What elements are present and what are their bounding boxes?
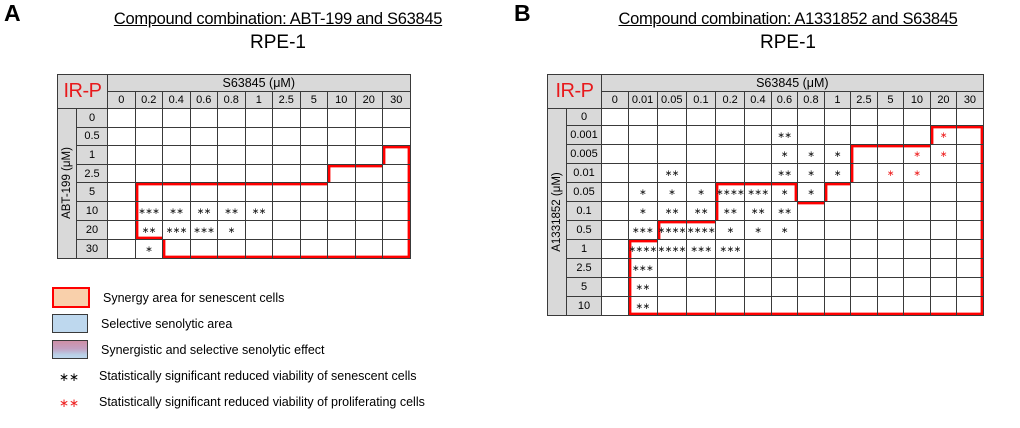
heatmap-cell bbox=[328, 183, 356, 202]
heatmap-cell bbox=[957, 240, 984, 259]
row-header-2.5: 2.5 bbox=[567, 259, 602, 278]
column-header-0.05: 0.05 bbox=[657, 92, 686, 109]
heatmap-cell bbox=[824, 109, 851, 126]
heatmap-cell bbox=[602, 221, 629, 240]
heatmap-cell bbox=[930, 183, 957, 202]
heatmap-cell: ∗∗ bbox=[686, 202, 715, 221]
heatmap-cell bbox=[904, 183, 931, 202]
heatmap-cell bbox=[135, 164, 163, 183]
significance-stars: ∗∗ bbox=[636, 283, 650, 293]
column-header-1: 1 bbox=[824, 92, 851, 109]
heatmap-cell bbox=[218, 127, 246, 146]
significance-stars: ∗∗∗∗ bbox=[658, 245, 686, 255]
heatmap-cell bbox=[218, 109, 246, 128]
heatmap-cell bbox=[904, 297, 931, 316]
significance-stars: ∗ bbox=[940, 131, 947, 141]
heatmap-cell: ∗∗ bbox=[628, 297, 657, 316]
row-header-20: 20 bbox=[77, 220, 108, 239]
column-header-20: 20 bbox=[355, 92, 383, 109]
column-header-0.4: 0.4 bbox=[745, 92, 772, 109]
heatmap-cell bbox=[798, 259, 825, 278]
heatmap-cell: ∗ bbox=[877, 164, 904, 183]
significance-stars: ∗ bbox=[887, 169, 894, 179]
heatmap-cell bbox=[824, 278, 851, 297]
heatmap-cell bbox=[930, 297, 957, 316]
row-header-0.5: 0.5 bbox=[567, 221, 602, 240]
panel-a-heatmap: IR-PS63845 (μM)00.20.40.60.812.55102030A… bbox=[57, 74, 411, 259]
legend-swatch-blue bbox=[52, 314, 88, 333]
heatmap-cell: ∗∗∗∗ bbox=[686, 221, 715, 240]
heatmap-cell bbox=[273, 220, 301, 239]
column-header-2.5: 2.5 bbox=[273, 92, 301, 109]
heatmap-cell: ∗ bbox=[218, 220, 246, 239]
heatmap-cell: ∗∗∗ bbox=[628, 259, 657, 278]
column-header-0.2: 0.2 bbox=[135, 92, 163, 109]
heatmap-cell bbox=[930, 109, 957, 126]
heatmap-cell bbox=[930, 221, 957, 240]
heatmap-cell bbox=[904, 278, 931, 297]
heatmap-cell bbox=[904, 221, 931, 240]
heatmap-cell bbox=[904, 126, 931, 145]
legend-stars-red-icon: ∗∗ bbox=[52, 396, 86, 410]
heatmap-cell bbox=[957, 259, 984, 278]
significance-stars: ∗ bbox=[807, 188, 814, 198]
heatmap-cell: ∗∗ bbox=[771, 202, 798, 221]
heatmap-cell bbox=[218, 146, 246, 165]
heatmap-cell bbox=[904, 109, 931, 126]
significance-stars: ∗∗∗ bbox=[747, 188, 768, 198]
heatmap-cell bbox=[273, 146, 301, 165]
significance-stars: ∗ bbox=[781, 226, 788, 236]
significance-stars: ∗ bbox=[913, 169, 920, 179]
heatmap-cell bbox=[273, 201, 301, 220]
heatmap-cell bbox=[851, 202, 878, 221]
heatmap-cell bbox=[602, 145, 629, 164]
heatmap-cell bbox=[328, 220, 356, 239]
heatmap-cell bbox=[245, 220, 273, 239]
column-header-5: 5 bbox=[300, 92, 328, 109]
panel-a-cell-line: RPE-1 bbox=[52, 33, 504, 52]
heatmap-cell bbox=[355, 183, 383, 202]
heatmap-cell bbox=[108, 146, 136, 165]
heatmap-table-b: IR-PS63845 (μM)00.010.050.10.20.40.60.81… bbox=[547, 74, 984, 316]
heatmap-cell bbox=[851, 109, 878, 126]
significance-stars: ∗ bbox=[754, 226, 761, 236]
column-header-0: 0 bbox=[108, 92, 136, 109]
heatmap-cell bbox=[355, 201, 383, 220]
heatmap-cell bbox=[877, 259, 904, 278]
heatmap-cell bbox=[108, 220, 136, 239]
row-header-0: 0 bbox=[567, 109, 602, 126]
column-header-5: 5 bbox=[877, 92, 904, 109]
significance-stars: ∗ bbox=[913, 150, 920, 160]
heatmap-cell bbox=[190, 239, 218, 258]
heatmap-cell: ∗∗∗ bbox=[190, 220, 218, 239]
heatmap-cell bbox=[771, 109, 798, 126]
heatmap-cell bbox=[190, 164, 218, 183]
legend-row: Synergy area for senescent cells bbox=[52, 288, 425, 307]
heatmap-cell bbox=[328, 127, 356, 146]
heatmap-cell bbox=[851, 221, 878, 240]
heatmap-cell: ∗∗ bbox=[218, 201, 246, 220]
significance-stars: ∗∗ bbox=[224, 207, 238, 217]
heatmap-cell bbox=[602, 240, 629, 259]
heatmap-cell bbox=[355, 239, 383, 258]
significance-stars: ∗∗ bbox=[723, 207, 737, 217]
row-header-0.001: 0.001 bbox=[567, 126, 602, 145]
legend-label: Synergy area for senescent cells bbox=[103, 291, 284, 305]
heatmap-cell bbox=[851, 145, 878, 164]
heatmap-cell bbox=[745, 240, 772, 259]
heatmap-cell bbox=[798, 297, 825, 316]
heatmap-cell bbox=[628, 164, 657, 183]
heatmap-cell bbox=[163, 146, 191, 165]
column-header-20: 20 bbox=[930, 92, 957, 109]
heatmap-cell bbox=[602, 109, 629, 126]
significance-stars: ∗∗∗ bbox=[193, 226, 214, 236]
heatmap-cell bbox=[300, 146, 328, 165]
heatmap-cell: ∗∗∗ bbox=[628, 221, 657, 240]
heatmap-cell bbox=[602, 278, 629, 297]
legend-stars-black-icon: ∗∗ bbox=[52, 370, 86, 384]
heatmap-cell bbox=[686, 164, 715, 183]
heatmap-cell bbox=[245, 146, 273, 165]
heatmap-cell: ∗ bbox=[771, 221, 798, 240]
heatmap-cell bbox=[745, 145, 772, 164]
heatmap-cell bbox=[135, 109, 163, 128]
heatmap-cell bbox=[245, 127, 273, 146]
significance-stars: ∗∗ bbox=[777, 169, 791, 179]
column-axis-title: S63845 (μM) bbox=[602, 75, 984, 92]
heatmap-cell bbox=[218, 239, 246, 258]
heatmap-cell: ∗∗ bbox=[716, 202, 745, 221]
heatmap-cell: ∗ bbox=[798, 164, 825, 183]
column-header-2.5: 2.5 bbox=[851, 92, 878, 109]
row-header-10: 10 bbox=[567, 297, 602, 316]
heatmap-cell bbox=[245, 109, 273, 128]
heatmap-cell bbox=[957, 221, 984, 240]
heatmap-cell: ∗∗ bbox=[657, 164, 686, 183]
heatmap-cell: ∗ bbox=[904, 145, 931, 164]
heatmap-cell bbox=[383, 146, 411, 165]
panel-b-titles: Compound combination: A1331852 and S6384… bbox=[562, 10, 1014, 52]
significance-stars: ∗∗∗ bbox=[166, 226, 187, 236]
heatmap-cell: ∗∗ bbox=[163, 201, 191, 220]
heatmap-cell bbox=[245, 183, 273, 202]
heatmap-cell bbox=[657, 126, 686, 145]
heatmap-cell bbox=[824, 259, 851, 278]
row-header-0.005: 0.005 bbox=[567, 145, 602, 164]
heatmap-cell: ∗∗∗ bbox=[163, 220, 191, 239]
heatmap-cell: ∗ bbox=[657, 183, 686, 202]
heatmap-cell bbox=[108, 239, 136, 258]
heatmap-cell bbox=[745, 164, 772, 183]
heatmap-cell bbox=[686, 109, 715, 126]
heatmap-cell bbox=[108, 183, 136, 202]
heatmap-cell bbox=[190, 146, 218, 165]
heatmap-cell: ∗∗ bbox=[628, 278, 657, 297]
column-header-0.1: 0.1 bbox=[686, 92, 715, 109]
heatmap-cell: ∗∗ bbox=[771, 126, 798, 145]
heatmap-cell bbox=[930, 240, 957, 259]
heatmap-cell: ∗ bbox=[628, 202, 657, 221]
column-header-0.01: 0.01 bbox=[628, 92, 657, 109]
heatmap-cell: ∗∗∗ bbox=[745, 183, 772, 202]
heatmap-cell: ∗∗∗∗ bbox=[657, 221, 686, 240]
heatmap-cell: ∗ bbox=[771, 145, 798, 164]
heatmap-cell bbox=[108, 201, 136, 220]
column-header-0.8: 0.8 bbox=[798, 92, 825, 109]
heatmap-cell: ∗∗ bbox=[135, 220, 163, 239]
significance-stars: ∗ bbox=[834, 150, 841, 160]
heatmap-cell bbox=[824, 183, 851, 202]
significance-stars: ∗∗∗∗ bbox=[658, 226, 686, 236]
panel-a: A Compound combination: ABT-199 and S638… bbox=[0, 0, 510, 426]
heatmap-cell bbox=[957, 126, 984, 145]
heatmap-cell bbox=[957, 278, 984, 297]
significance-stars: ∗ bbox=[668, 188, 675, 198]
heatmap-cell bbox=[877, 126, 904, 145]
heatmap-cell: ∗ bbox=[745, 221, 772, 240]
heatmap-cell bbox=[628, 145, 657, 164]
heatmap-cell bbox=[877, 221, 904, 240]
heatmap-cell bbox=[328, 201, 356, 220]
heatmap-cell bbox=[328, 109, 356, 128]
heatmap-cell bbox=[355, 220, 383, 239]
heatmap-cell bbox=[798, 278, 825, 297]
heatmap-cell bbox=[657, 145, 686, 164]
legend-label: Statistically significant reduced viabil… bbox=[99, 369, 417, 383]
significance-stars: ∗ bbox=[145, 245, 152, 255]
heatmap-cell bbox=[686, 126, 715, 145]
heatmap-cell bbox=[163, 127, 191, 146]
heatmap-cell bbox=[300, 183, 328, 202]
heatmap-cell: ∗∗∗∗ bbox=[657, 240, 686, 259]
row-header-0.5: 0.5 bbox=[77, 127, 108, 146]
heatmap-cell bbox=[135, 127, 163, 146]
heatmap-cell bbox=[957, 164, 984, 183]
heatmap-cell bbox=[851, 240, 878, 259]
column-header-0.8: 0.8 bbox=[218, 92, 246, 109]
heatmap-cell bbox=[602, 126, 629, 145]
significance-stars: ∗ bbox=[639, 188, 646, 198]
heatmap-cell: ∗ bbox=[135, 239, 163, 258]
row-header-5: 5 bbox=[77, 183, 108, 202]
heatmap-cell bbox=[190, 109, 218, 128]
significance-stars: ∗ bbox=[727, 226, 734, 236]
heatmap-cell bbox=[163, 183, 191, 202]
heatmap-cell bbox=[716, 126, 745, 145]
column-header-0.6: 0.6 bbox=[190, 92, 218, 109]
heatmap-cell: ∗ bbox=[798, 183, 825, 202]
significance-stars: ∗ bbox=[834, 169, 841, 179]
heatmap-cell bbox=[163, 239, 191, 258]
heatmap-cell bbox=[745, 126, 772, 145]
significance-stars: ∗ bbox=[228, 226, 235, 236]
heatmap-cell bbox=[877, 109, 904, 126]
significance-stars: ∗ bbox=[639, 207, 646, 217]
significance-stars: ∗∗ bbox=[665, 169, 679, 179]
heatmap-cell: ∗∗∗ bbox=[716, 240, 745, 259]
heatmap-cell bbox=[877, 202, 904, 221]
heatmap-cell bbox=[716, 164, 745, 183]
heatmap-cell bbox=[745, 259, 772, 278]
heatmap-cell bbox=[877, 240, 904, 259]
heatmap-cell bbox=[328, 146, 356, 165]
heatmap-cell bbox=[300, 109, 328, 128]
heatmap-cell bbox=[328, 239, 356, 258]
significance-stars: ∗ bbox=[781, 188, 788, 198]
heatmap-cell bbox=[877, 278, 904, 297]
heatmap-cell bbox=[218, 164, 246, 183]
significance-stars: ∗ bbox=[807, 150, 814, 160]
significance-stars: ∗∗ bbox=[777, 131, 791, 141]
heatmap-cell bbox=[273, 127, 301, 146]
panel-a-figure-title: Compound combination: ABT-199 and S63845 bbox=[52, 10, 504, 29]
panel-a-titles: Compound combination: ABT-199 and S63845… bbox=[52, 10, 504, 52]
panel-b-cell-line: RPE-1 bbox=[562, 33, 1014, 52]
heatmap-cell bbox=[383, 164, 411, 183]
row-header-1: 1 bbox=[567, 240, 602, 259]
heatmap-cell bbox=[851, 297, 878, 316]
heatmap-cell bbox=[686, 297, 715, 316]
heatmap-cell bbox=[904, 240, 931, 259]
significance-stars: ∗∗∗ bbox=[632, 226, 653, 236]
row-axis-title: ABT-199 (μM) bbox=[58, 109, 77, 259]
heatmap-cell: ∗∗∗ bbox=[686, 240, 715, 259]
column-header-1: 1 bbox=[245, 92, 273, 109]
heatmap-cell bbox=[851, 183, 878, 202]
panel-b-figure-title: Compound combination: A1331852 and S6384… bbox=[562, 10, 1014, 29]
heatmap-cell bbox=[716, 259, 745, 278]
heatmap-cell bbox=[957, 202, 984, 221]
significance-stars: ∗∗ bbox=[665, 207, 679, 217]
significance-stars: ∗ bbox=[697, 188, 704, 198]
heatmap-cell bbox=[716, 278, 745, 297]
heatmap-cell bbox=[657, 259, 686, 278]
heatmap-cell bbox=[163, 109, 191, 128]
heatmap-cell: ∗∗∗∗ bbox=[628, 240, 657, 259]
heatmap-cell bbox=[745, 297, 772, 316]
heatmap-cell bbox=[135, 183, 163, 202]
significance-stars: ∗∗∗∗ bbox=[687, 226, 715, 236]
legend-swatch-gradient bbox=[52, 340, 88, 359]
legend-swatch-orange-red-outline bbox=[52, 287, 90, 308]
heatmap-cell: ∗ bbox=[628, 183, 657, 202]
heatmap-cell bbox=[686, 259, 715, 278]
heatmap-cell bbox=[851, 164, 878, 183]
column-header-0.2: 0.2 bbox=[716, 92, 745, 109]
legend-label: Selective senolytic area bbox=[101, 317, 232, 331]
heatmap-cell bbox=[628, 109, 657, 126]
heatmap-cell bbox=[273, 164, 301, 183]
heatmap-cell bbox=[190, 127, 218, 146]
legend-label: Statistically significant reduced viabil… bbox=[99, 395, 425, 409]
heatmap-cell bbox=[771, 259, 798, 278]
heatmap-cell bbox=[798, 202, 825, 221]
panel-letter-a: A bbox=[4, 2, 21, 25]
heatmap-cell bbox=[798, 221, 825, 240]
legend-row: Synergistic and selective senolytic effe… bbox=[52, 340, 425, 359]
significance-stars: ∗∗∗ bbox=[138, 207, 159, 217]
significance-stars: ∗∗ bbox=[252, 207, 266, 217]
heatmap-cell: ∗ bbox=[716, 221, 745, 240]
column-header-30: 30 bbox=[383, 92, 411, 109]
row-axis-title: A1331852 (μM) bbox=[548, 109, 567, 316]
heatmap-cell bbox=[930, 259, 957, 278]
heatmap-cell bbox=[824, 240, 851, 259]
significance-stars: ∗ bbox=[781, 150, 788, 160]
column-header-0.4: 0.4 bbox=[163, 92, 191, 109]
heatmap-cell bbox=[877, 145, 904, 164]
heatmap-cell: ∗∗ bbox=[245, 201, 273, 220]
significance-stars: ∗∗∗ bbox=[632, 264, 653, 274]
heatmap-cell: ∗ bbox=[824, 145, 851, 164]
heatmap-cell bbox=[273, 239, 301, 258]
heatmap-cell bbox=[851, 259, 878, 278]
heatmap-cell bbox=[824, 202, 851, 221]
heatmap-table-a: IR-PS63845 (μM)00.20.40.60.812.55102030A… bbox=[57, 74, 411, 259]
heatmap-cell bbox=[904, 259, 931, 278]
heatmap-cell bbox=[686, 278, 715, 297]
heatmap-cell bbox=[798, 126, 825, 145]
heatmap-cell bbox=[957, 297, 984, 316]
corner-label-irp: IR-P bbox=[548, 75, 602, 109]
heatmap-cell: ∗ bbox=[771, 183, 798, 202]
heatmap-cell bbox=[930, 164, 957, 183]
heatmap-cell: ∗ bbox=[930, 126, 957, 145]
panel-letter-b: B bbox=[514, 2, 531, 25]
heatmap-cell bbox=[745, 278, 772, 297]
heatmap-cell bbox=[851, 278, 878, 297]
heatmap-cell bbox=[383, 239, 411, 258]
heatmap-cell bbox=[300, 201, 328, 220]
row-header-1: 1 bbox=[77, 146, 108, 165]
legend-row: ∗∗Statistically significant reduced viab… bbox=[52, 366, 425, 385]
significance-stars: ∗∗∗∗ bbox=[716, 188, 744, 198]
heatmap-cell bbox=[383, 109, 411, 128]
heatmap-cell bbox=[273, 109, 301, 128]
heatmap-cell: ∗ bbox=[904, 164, 931, 183]
column-header-10: 10 bbox=[328, 92, 356, 109]
heatmap-cell bbox=[957, 145, 984, 164]
heatmap-cell bbox=[798, 109, 825, 126]
heatmap-cell bbox=[771, 297, 798, 316]
heatmap-cell bbox=[245, 239, 273, 258]
row-header-0: 0 bbox=[77, 109, 108, 128]
heatmap-cell: ∗ bbox=[824, 164, 851, 183]
heatmap-cell bbox=[745, 109, 772, 126]
significance-stars: ∗∗ bbox=[777, 207, 791, 217]
heatmap-cell bbox=[628, 126, 657, 145]
heatmap-cell bbox=[355, 146, 383, 165]
heatmap-cell bbox=[657, 278, 686, 297]
heatmap-cell bbox=[108, 127, 136, 146]
heatmap-cell bbox=[602, 183, 629, 202]
heatmap-cell bbox=[851, 126, 878, 145]
heatmap-cell bbox=[602, 202, 629, 221]
heatmap-cell bbox=[716, 297, 745, 316]
heatmap-cell bbox=[108, 109, 136, 128]
legend-row: ∗∗Statistically significant reduced viab… bbox=[52, 392, 425, 411]
column-header-0.6: 0.6 bbox=[771, 92, 798, 109]
heatmap-cell: ∗ bbox=[798, 145, 825, 164]
heatmap-cell bbox=[190, 183, 218, 202]
heatmap-cell bbox=[798, 240, 825, 259]
heatmap-cell bbox=[957, 109, 984, 126]
heatmap-cell bbox=[245, 164, 273, 183]
heatmap-cell bbox=[273, 183, 301, 202]
